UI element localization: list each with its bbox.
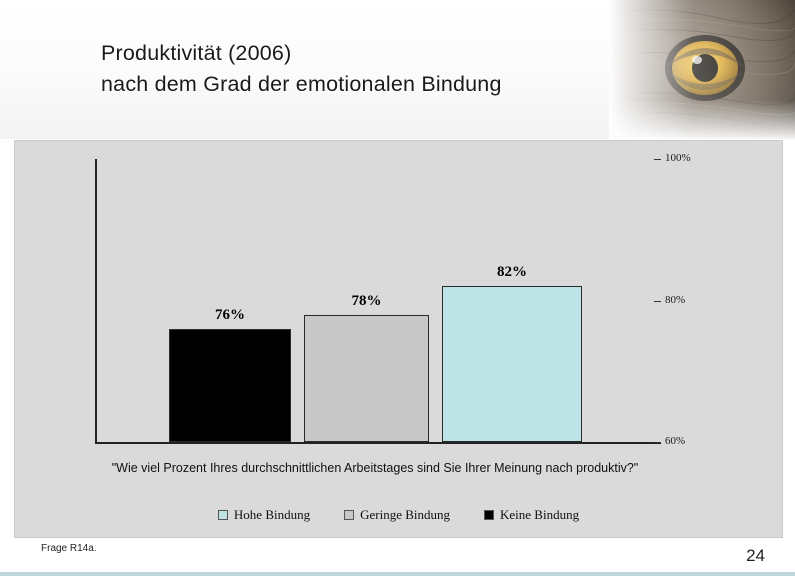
bar-keine-bindung	[169, 329, 291, 442]
chart-plot-area: 76% 78% 82% 100% 80% 60%	[95, 159, 661, 444]
chart-legend: Hohe Bindung Geringe Bindung Keine Bindu…	[15, 507, 782, 523]
page-title: Produktivität (2006) nach dem Grad der e…	[101, 38, 701, 100]
chart-panel: 76% 78% 82% 100% 80% 60% "Wie viel Proze…	[14, 140, 783, 538]
legend-item-geringe-bindung: Geringe Bindung	[344, 507, 450, 523]
footnote: Frage R14a.	[41, 543, 97, 554]
legend-item-hohe-bindung: Hohe Bindung	[218, 507, 310, 523]
chart-question-caption: "Wie viel Prozent Ihres durchschnittlich…	[75, 459, 675, 478]
slide: Produktivität (2006) nach dem Grad der e…	[0, 0, 795, 576]
legend-label-geringe-bindung: Geringe Bindung	[360, 507, 450, 523]
y-tick-mark-80	[654, 301, 661, 302]
footer-rule	[0, 572, 795, 576]
slide-header: Produktivität (2006) nach dem Grad der e…	[0, 0, 795, 139]
y-tick-label-80: 80%	[665, 294, 685, 306]
legend-item-keine-bindung: Keine Bindung	[484, 507, 579, 523]
legend-swatch-hohe-bindung	[218, 510, 228, 520]
bar-label-keine-bindung: 76%	[169, 307, 291, 324]
y-tick-mark-60	[654, 442, 661, 443]
bar-geringe-bindung	[304, 315, 429, 442]
legend-swatch-geringe-bindung	[344, 510, 354, 520]
bar-label-hohe-bindung: 82%	[442, 264, 582, 281]
y-tick-mark-100	[654, 159, 661, 160]
bar-label-geringe-bindung: 78%	[304, 293, 429, 310]
legend-label-keine-bindung: Keine Bindung	[500, 507, 579, 523]
x-axis-line	[95, 442, 661, 444]
legend-label-hohe-bindung: Hohe Bindung	[234, 507, 310, 523]
page-number: 24	[746, 546, 765, 566]
y-tick-label-60: 60%	[665, 435, 685, 447]
bar-hohe-bindung	[442, 286, 582, 442]
y-axis-line	[95, 159, 97, 444]
y-tick-label-100: 100%	[665, 152, 691, 164]
legend-swatch-keine-bindung	[484, 510, 494, 520]
